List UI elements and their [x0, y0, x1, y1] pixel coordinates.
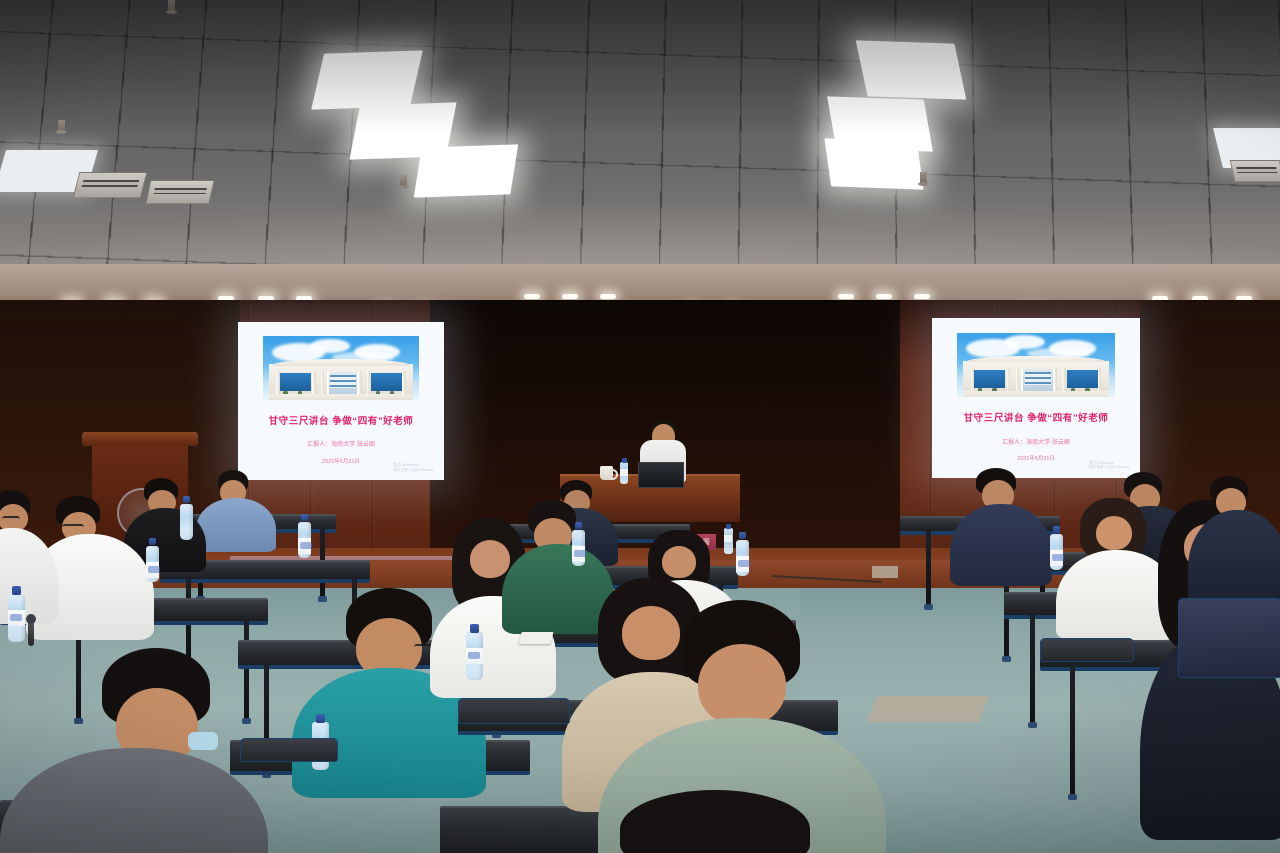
attendee-head — [1096, 516, 1132, 550]
campus-building — [963, 361, 1108, 397]
water-bottle — [146, 546, 159, 582]
slide-presenter: 汇报人：海南大学 张云阁 — [307, 439, 375, 448]
attendee-torso — [950, 504, 1052, 586]
projection-screen-right: 甘守三尺讲台 争做“四有”好老师 汇报人：海南大学 张云阁 2021年5月21日… — [932, 318, 1140, 478]
attendee-head — [470, 540, 510, 578]
attendee-head — [622, 606, 680, 660]
chair-back — [1178, 598, 1280, 678]
water-bottle — [572, 530, 585, 566]
floor-mat — [867, 696, 990, 722]
chair-back — [1040, 638, 1134, 662]
presenter-laptop — [638, 462, 684, 488]
downlight — [524, 294, 540, 299]
water-bottle — [466, 632, 483, 680]
windows-activation-watermark: 激活 Windows 转到“设置”以激活 Windows — [393, 462, 434, 472]
tea-cup — [600, 466, 613, 480]
water-bottle — [1050, 534, 1063, 570]
downlight — [914, 294, 930, 299]
campus-building — [269, 364, 413, 399]
ceiling-shading — [0, 0, 1280, 300]
watermark-line-2: 转到“设置”以激活 Windows — [1089, 465, 1130, 470]
slide-content-left: 甘守三尺讲台 争做“四有”好老师 汇报人：海南大学 张云阁 2021年5月21日… — [238, 322, 444, 480]
downlight — [876, 294, 892, 299]
floor-mat — [872, 566, 898, 578]
eyeglasses-icon — [62, 524, 84, 531]
desk-leg — [1070, 666, 1075, 796]
slide-photo — [263, 336, 420, 399]
water-bottle — [180, 504, 193, 540]
lecture-hall-scene: 甘守三尺讲台 争做“四有”好老师 汇报人：海南大学 张云阁 2021年5月21日… — [0, 0, 1280, 853]
desk-leg — [1030, 614, 1035, 724]
attendee-head — [698, 644, 786, 726]
watermark-line-2: 转到“设置”以激活 Windows — [393, 468, 434, 473]
desk-leg — [926, 530, 931, 606]
water-bottle — [620, 462, 628, 484]
attendee-head — [662, 546, 696, 578]
face-mask — [188, 732, 218, 750]
downlight — [562, 294, 578, 299]
paper-handout — [519, 632, 554, 644]
chair-back — [458, 698, 570, 724]
water-bottle — [736, 540, 749, 576]
chair-back — [240, 738, 338, 762]
eyeglasses-icon — [2, 516, 20, 523]
suspended-ceiling — [0, 0, 1280, 300]
slide-date: 2021年5月21日 — [1017, 454, 1055, 462]
water-bottle — [8, 594, 25, 642]
slide-photo — [957, 333, 1115, 397]
lectern-top — [82, 432, 198, 446]
desk-microphone — [28, 620, 34, 646]
attendee-torso — [502, 544, 614, 634]
desk-leg — [244, 620, 249, 720]
windows-activation-watermark: 激活 Windows 转到“设置”以激活 Windows — [1089, 460, 1130, 470]
slide-title: 甘守三尺讲台 争做“四有”好老师 — [964, 410, 1109, 424]
water-bottle — [724, 528, 733, 554]
attendee-torso — [196, 498, 276, 552]
downlight — [600, 294, 616, 299]
projection-screen-left: 甘守三尺讲台 争做“四有”好老师 汇报人：海南大学 张云阁 2021年5月21日… — [238, 322, 444, 480]
slide-title: 甘守三尺讲台 争做“四有”好老师 — [269, 413, 414, 427]
slide-content-right: 甘守三尺讲台 争做“四有”好老师 汇报人：海南大学 张云阁 2021年5月21日… — [932, 318, 1140, 478]
slide-date: 2021年5月21日 — [322, 457, 360, 465]
downlight — [838, 294, 854, 299]
slide-presenter: 汇报人：海南大学 张云阁 — [1002, 437, 1070, 446]
water-bottle — [298, 522, 311, 558]
